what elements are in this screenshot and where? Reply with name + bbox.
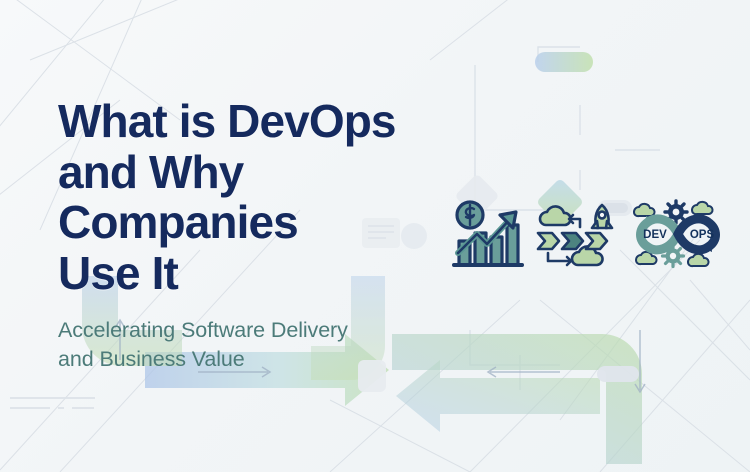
rocket-icon: [592, 205, 612, 228]
ci-cd-pipeline-icon: [532, 197, 620, 271]
page-title: What is DevOps and Why Companies Use It: [58, 96, 478, 298]
flow-pill-lower-right: [597, 366, 639, 382]
growth-chart-icon: [446, 197, 526, 271]
chart-bar-4: [507, 225, 518, 265]
text-block: What is DevOps and Why Companies Use It …: [58, 96, 478, 374]
chevron-arrow: [586, 233, 607, 249]
icon-row: DEV OPS: [446, 192, 736, 276]
cloud-icon: [540, 206, 571, 225]
chevron-arrow: [538, 233, 559, 249]
devops-infinity-icon: DEV OPS: [626, 194, 730, 274]
chevron-arrow: [562, 233, 583, 249]
flow-pill-top: [535, 52, 593, 72]
devops-banner: What is DevOps and Why Companies Use It …: [0, 0, 750, 472]
ops-label: OPS: [690, 229, 715, 241]
dev-label: DEV: [643, 229, 667, 241]
page-subtitle: Accelerating Software Delivery and Busin…: [58, 316, 478, 374]
